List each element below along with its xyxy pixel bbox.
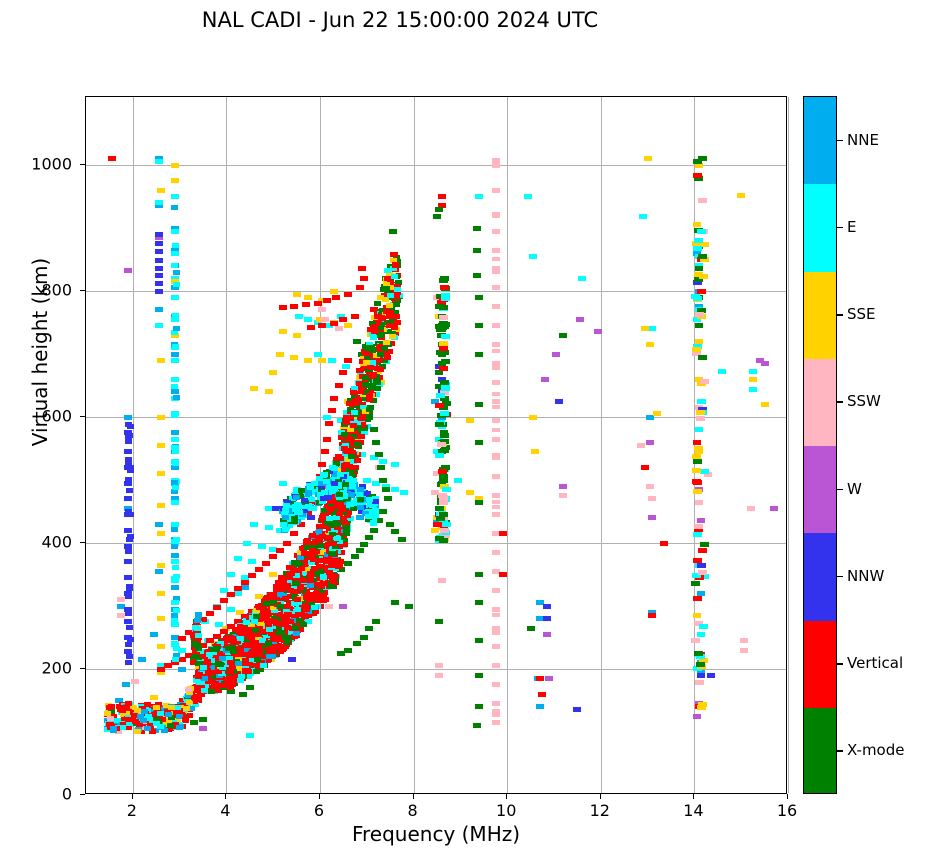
data-point [391, 487, 399, 492]
data-point [201, 676, 208, 681]
data-point [653, 411, 661, 416]
data-point [696, 416, 705, 421]
data-point [172, 449, 179, 454]
data-point [276, 352, 284, 357]
data-point [492, 644, 500, 649]
data-point [323, 479, 330, 484]
data-point [172, 565, 179, 570]
data-point [695, 680, 704, 685]
data-point [692, 454, 701, 459]
data-point [693, 714, 701, 719]
data-point [435, 207, 443, 212]
data-point [358, 266, 366, 271]
data-point [157, 563, 165, 568]
data-point [155, 569, 163, 574]
data-point [155, 289, 163, 294]
data-point [348, 454, 355, 459]
data-point [648, 496, 656, 501]
data-point [693, 558, 702, 563]
data-point [325, 421, 333, 426]
data-point [248, 559, 256, 564]
data-point [436, 350, 445, 355]
data-point [126, 488, 133, 493]
x-axis-tick [600, 794, 601, 799]
data-point [124, 415, 132, 420]
data-point [328, 358, 336, 363]
data-point [321, 449, 329, 454]
data-point [323, 437, 331, 442]
data-point [310, 557, 317, 562]
data-point [363, 478, 371, 483]
data-point [334, 522, 341, 527]
data-point [295, 314, 303, 319]
data-point [331, 466, 338, 471]
data-point [438, 493, 447, 498]
colorbar-title-wrapper: Azimuth Direction [775, 295, 951, 315]
data-point [325, 604, 333, 609]
data-point [341, 432, 348, 437]
x-axis-tick [132, 794, 133, 799]
data-point [698, 570, 707, 575]
data-point [167, 723, 174, 728]
data-point [126, 586, 133, 591]
data-point [335, 383, 343, 388]
data-point [316, 538, 323, 543]
data-point [353, 339, 361, 344]
data-point [171, 613, 178, 618]
data-point [344, 561, 352, 566]
data-point [320, 581, 327, 586]
data-point [700, 542, 709, 547]
data-point [157, 616, 165, 621]
data-point [466, 418, 474, 423]
data-point [693, 246, 702, 251]
data-point [253, 614, 260, 619]
data-point [536, 676, 544, 681]
data-point [354, 442, 361, 447]
data-point [473, 226, 481, 231]
data-point [242, 661, 249, 666]
data-point [318, 307, 326, 312]
data-point [492, 364, 500, 368]
data-point [314, 301, 322, 306]
data-point [269, 649, 276, 654]
data-point [559, 333, 567, 338]
data-point [317, 569, 324, 574]
data-point [473, 248, 481, 253]
data-point [248, 573, 256, 578]
x-axis-tick-label: 6 [314, 801, 324, 820]
data-point [365, 514, 372, 519]
data-point [307, 583, 314, 588]
data-point [277, 586, 284, 591]
data-point [287, 619, 294, 624]
data-point [155, 159, 163, 164]
data-point [660, 541, 668, 546]
data-point [104, 711, 111, 716]
data-point [318, 323, 326, 328]
data-point [171, 384, 178, 389]
data-point [698, 254, 707, 259]
data-point [371, 329, 378, 334]
data-point [440, 528, 449, 533]
data-point [125, 509, 132, 514]
data-point [157, 443, 165, 448]
data-point [492, 701, 500, 706]
data-point [475, 500, 483, 505]
data-point [192, 642, 199, 647]
data-point [107, 716, 114, 721]
data-point [330, 578, 337, 583]
data-point [698, 548, 707, 553]
data-point [339, 317, 347, 322]
data-point [241, 580, 249, 585]
data-point [473, 273, 481, 278]
data-point [265, 389, 273, 394]
data-point [435, 663, 443, 668]
x-axis-tick [787, 794, 788, 799]
data-point [234, 586, 242, 591]
colorbar-segment-nne [804, 97, 836, 185]
data-point [171, 430, 179, 435]
data-point [196, 680, 203, 685]
colorbar-tick [837, 401, 843, 402]
data-point [365, 626, 373, 631]
data-point [155, 522, 163, 527]
colorbar-segment-sse [804, 272, 836, 360]
data-point [538, 692, 546, 697]
data-point [330, 289, 338, 294]
data-point [213, 605, 221, 610]
data-point [125, 594, 132, 599]
data-point [740, 638, 748, 643]
y-axis-tick [80, 290, 85, 291]
data-point [292, 625, 299, 630]
data-point [492, 474, 500, 479]
data-point [698, 156, 707, 161]
data-point [246, 733, 254, 738]
y-axis-tick [80, 668, 85, 669]
data-point [492, 720, 500, 725]
data-point [293, 292, 301, 297]
data-point [195, 646, 202, 651]
data-point [648, 613, 656, 618]
data-point [296, 618, 303, 623]
data-point [377, 367, 384, 372]
data-point [228, 677, 235, 682]
data-point [301, 613, 308, 618]
data-point [155, 200, 163, 205]
data-point [328, 522, 335, 527]
data-point [492, 512, 500, 517]
data-point [323, 415, 331, 420]
data-point [269, 572, 277, 577]
colorbar-segment-x-mode [804, 708, 836, 794]
data-point [387, 293, 394, 298]
data-point [492, 399, 500, 404]
data-point [383, 286, 390, 291]
data-point [697, 632, 705, 637]
data-point [360, 542, 368, 547]
data-point [698, 198, 707, 203]
data-point [247, 635, 254, 640]
data-point [263, 614, 270, 619]
data-point [543, 604, 551, 609]
data-point [328, 563, 335, 568]
data-point [524, 194, 532, 199]
data-point [351, 554, 359, 559]
data-point [243, 541, 251, 546]
data-point [192, 696, 199, 701]
data-point [337, 456, 344, 461]
data-point [492, 505, 500, 509]
data-point [435, 619, 443, 624]
data-point [173, 270, 180, 275]
data-point [646, 342, 654, 347]
colorbar-label-nne: NNE [847, 131, 879, 149]
data-point [386, 303, 393, 308]
data-point [356, 548, 364, 553]
data-point [125, 660, 132, 665]
data-point [150, 632, 158, 637]
data-point [328, 584, 335, 589]
data-point [117, 597, 125, 602]
data-point [350, 423, 357, 428]
data-point [153, 705, 160, 710]
colorbar-label-x-mode: X-mode [847, 741, 904, 759]
data-point [283, 503, 290, 508]
data-point [229, 645, 236, 650]
data-point [320, 575, 327, 580]
data-point [749, 387, 757, 392]
data-point [454, 478, 462, 483]
data-point [269, 370, 277, 375]
colorbar-label-e: E [847, 218, 856, 236]
data-point [691, 638, 700, 643]
data-point [347, 502, 354, 507]
data-point [435, 370, 443, 375]
data-point [370, 427, 378, 432]
data-point [398, 537, 406, 542]
x-axis-tick [506, 794, 507, 799]
data-point [237, 678, 244, 683]
data-point [699, 274, 708, 279]
data-point [697, 399, 706, 404]
data-point [331, 481, 338, 486]
data-point [492, 212, 500, 216]
data-point [382, 487, 390, 492]
data-point [492, 342, 500, 347]
data-point [393, 302, 400, 307]
data-point [386, 522, 394, 527]
data-point [761, 402, 769, 407]
data-point [367, 405, 374, 410]
data-point [370, 335, 377, 340]
data-point [292, 589, 299, 594]
data-point [237, 636, 244, 641]
data-point [648, 515, 656, 520]
data-point [441, 293, 450, 298]
data-point [351, 314, 359, 319]
data-point [439, 478, 448, 483]
data-point [311, 605, 318, 610]
data-point [578, 276, 586, 281]
data-point [322, 597, 329, 602]
data-point [492, 631, 500, 635]
data-point [262, 561, 270, 566]
data-point [343, 531, 350, 536]
data-point [697, 229, 706, 234]
data-point [695, 427, 703, 432]
data-point [301, 498, 308, 503]
data-point [694, 238, 703, 243]
data-point [294, 607, 301, 612]
data-point [439, 346, 448, 351]
data-point [344, 648, 352, 653]
data-point [492, 323, 500, 328]
data-point [386, 323, 393, 328]
colorbar-label-vertical: Vertical [847, 654, 903, 672]
data-point [265, 641, 272, 646]
data-point [229, 636, 236, 641]
data-point [172, 445, 179, 450]
data-point [171, 205, 178, 210]
data-point [756, 358, 764, 363]
data-point [134, 729, 141, 734]
data-point [125, 701, 132, 706]
data-point [492, 161, 500, 165]
data-point [442, 522, 451, 527]
data-point [182, 717, 189, 722]
data-point [389, 229, 397, 234]
data-point [266, 627, 273, 632]
data-point [492, 682, 500, 687]
data-point [124, 559, 132, 564]
data-point [157, 188, 165, 193]
data-point [171, 352, 179, 357]
data-point [265, 525, 273, 530]
data-point [360, 635, 368, 640]
data-point [293, 333, 301, 338]
data-point [391, 600, 399, 605]
colorbar-tick [837, 576, 843, 577]
data-point [405, 604, 413, 609]
data-point [307, 515, 315, 520]
data-point [372, 619, 380, 624]
colorbar-tick [837, 489, 843, 490]
data-point [171, 437, 179, 442]
data-point [279, 481, 287, 486]
data-point [227, 592, 235, 597]
data-point [157, 503, 165, 508]
data-point [492, 613, 500, 617]
data-point [475, 295, 483, 300]
data-point [357, 497, 364, 502]
data-point [171, 163, 179, 168]
data-point [171, 389, 179, 394]
data-point [435, 506, 444, 511]
data-point [248, 651, 255, 656]
data-point [253, 669, 260, 674]
data-point [293, 562, 300, 567]
data-point [293, 495, 300, 500]
data-point [393, 314, 400, 319]
data-point [555, 399, 563, 404]
data-point [282, 515, 289, 520]
data-point [336, 511, 343, 516]
data-point [492, 493, 500, 498]
data-point [319, 558, 326, 563]
data-point [400, 490, 408, 495]
data-point [311, 566, 318, 571]
data-point [343, 420, 350, 425]
data-point [290, 355, 298, 360]
data-point [381, 346, 388, 351]
data-point [155, 273, 163, 278]
data-point [343, 415, 350, 420]
data-point [350, 390, 357, 395]
data-point [234, 591, 242, 596]
data-point [492, 664, 500, 668]
data-point [693, 173, 702, 178]
data-point [342, 364, 350, 369]
data-point [269, 554, 277, 559]
data-point [378, 315, 385, 320]
data-point [492, 188, 500, 192]
data-point [695, 500, 703, 505]
data-point [124, 649, 132, 654]
data-point [440, 411, 449, 416]
data-point [697, 563, 706, 568]
data-point [646, 484, 654, 489]
data-point [124, 575, 132, 580]
data-point [288, 657, 296, 662]
data-point [206, 611, 214, 616]
data-point [492, 711, 500, 715]
data-point [328, 408, 336, 413]
data-point [344, 292, 352, 297]
data-point [155, 266, 163, 271]
data-point [183, 706, 190, 711]
data-point [173, 574, 180, 579]
data-point [441, 386, 450, 391]
data-point [440, 380, 449, 385]
y-axis-title: Virtual height (km) [28, 152, 52, 552]
data-point [441, 334, 450, 339]
colorbar-segment-vertical [804, 621, 836, 709]
data-point [697, 705, 706, 710]
data-point [330, 541, 337, 546]
data-point [155, 307, 163, 312]
data-point [153, 721, 160, 726]
data-point [492, 392, 500, 396]
data-point [492, 437, 500, 442]
data-point [258, 544, 266, 549]
data-point [366, 497, 373, 502]
data-point [165, 712, 172, 717]
data-point [440, 433, 449, 438]
data-point [693, 222, 701, 227]
x-axis-tick-label: 10 [496, 801, 516, 820]
y-axis-tick [80, 416, 85, 417]
data-point [318, 462, 326, 467]
data-point [125, 611, 132, 616]
data-point [126, 654, 133, 659]
data-point [236, 630, 243, 635]
data-point [637, 443, 645, 448]
data-point [357, 505, 364, 510]
data-point [749, 377, 757, 382]
